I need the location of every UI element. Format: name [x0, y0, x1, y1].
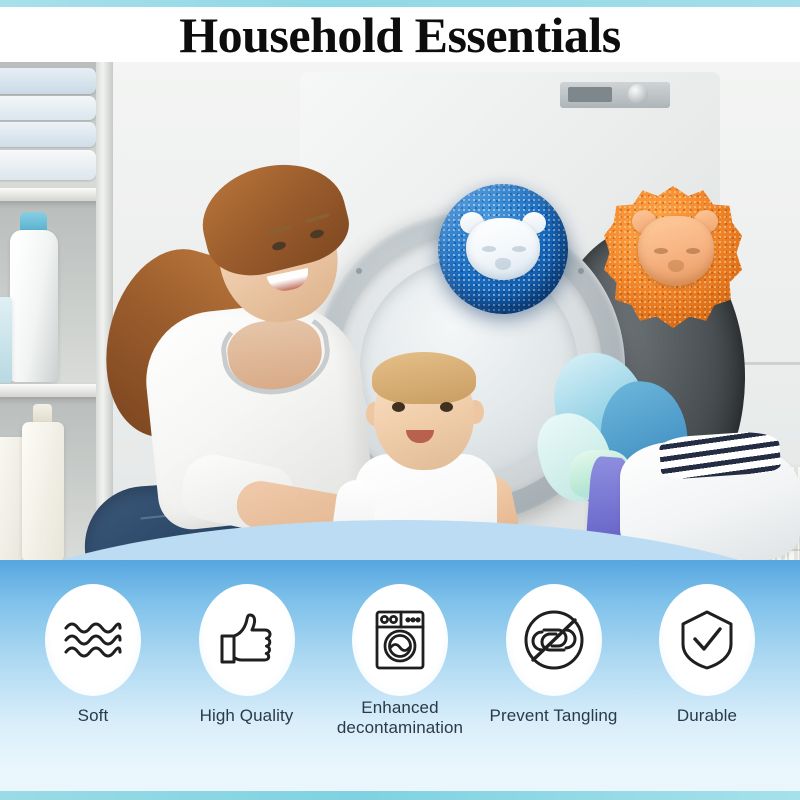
small-bottle — [0, 297, 12, 383]
bear-face — [466, 218, 540, 280]
feature-badge-high-quality — [199, 584, 295, 696]
hero-scene — [0, 62, 800, 572]
feature-badge-soft — [45, 584, 141, 696]
washer-bolt — [356, 268, 362, 274]
thumbs-up-icon — [218, 613, 276, 667]
feature-high-quality: High Quality — [172, 584, 322, 726]
feature-label-line-2: decontamination — [337, 718, 463, 737]
washer-bolt — [578, 268, 584, 274]
hero-photo — [0, 62, 800, 572]
basket-striped-shirt — [659, 430, 782, 480]
title-band: Household Essentials — [0, 7, 800, 62]
waves-icon — [62, 616, 124, 664]
product-marketing-image: Household Essentials — [0, 0, 800, 800]
feature-label-high-quality: High Quality — [200, 706, 294, 726]
bear-eye-left — [482, 246, 496, 252]
shelf-board — [0, 384, 104, 397]
detergent-jug — [22, 422, 64, 562]
feature-list: Soft High Quality — [0, 584, 800, 784]
baby-hair — [372, 352, 476, 404]
feature-label-durable: Durable — [677, 706, 737, 726]
orange-lint-catcher-ball — [604, 186, 742, 328]
baby-eye — [392, 402, 405, 412]
folded-towel — [0, 150, 96, 180]
shelf-board — [0, 188, 104, 201]
blue-lint-catcher-ball — [438, 184, 568, 314]
bear-snout — [495, 258, 511, 270]
lion-eye-left — [654, 248, 668, 254]
page-title: Household Essentials — [179, 10, 621, 60]
folded-towel — [0, 68, 96, 94]
lion-snout — [668, 260, 684, 272]
feature-badge-prevent-tangling — [506, 584, 602, 696]
washer-display — [568, 87, 612, 102]
detergent-bottle — [10, 230, 58, 382]
lion-eye-right — [686, 248, 700, 254]
no-tangle-icon — [522, 608, 586, 672]
baby-eye — [440, 402, 453, 412]
washing-machine-icon — [374, 609, 426, 671]
shield-check-icon — [679, 609, 735, 671]
feature-prevent-tangling: Prevent Tangling — [479, 584, 629, 726]
feature-badge-durable — [659, 584, 755, 696]
washer-knob — [628, 84, 648, 104]
feature-durable: Durable — [632, 584, 782, 726]
folded-towel — [0, 96, 96, 120]
feature-label-enhanced-decontamination: Enhanced decontamination — [337, 698, 463, 738]
feature-label-prevent-tangling: Prevent Tangling — [490, 706, 618, 726]
features-panel: Soft High Quality — [0, 560, 800, 800]
folded-towel — [0, 122, 96, 147]
bottom-accent-strip — [0, 791, 800, 800]
feature-label-soft: Soft — [78, 706, 109, 726]
feature-badge-enhanced-decontamination — [352, 584, 448, 696]
lion-face — [638, 216, 714, 286]
feature-enhanced-decontamination: Enhanced decontamination — [325, 584, 475, 738]
top-accent-strip — [0, 0, 800, 7]
bear-eye-right — [512, 246, 526, 252]
feature-soft: Soft — [18, 584, 168, 726]
feature-label-line-1: Enhanced — [361, 698, 438, 717]
